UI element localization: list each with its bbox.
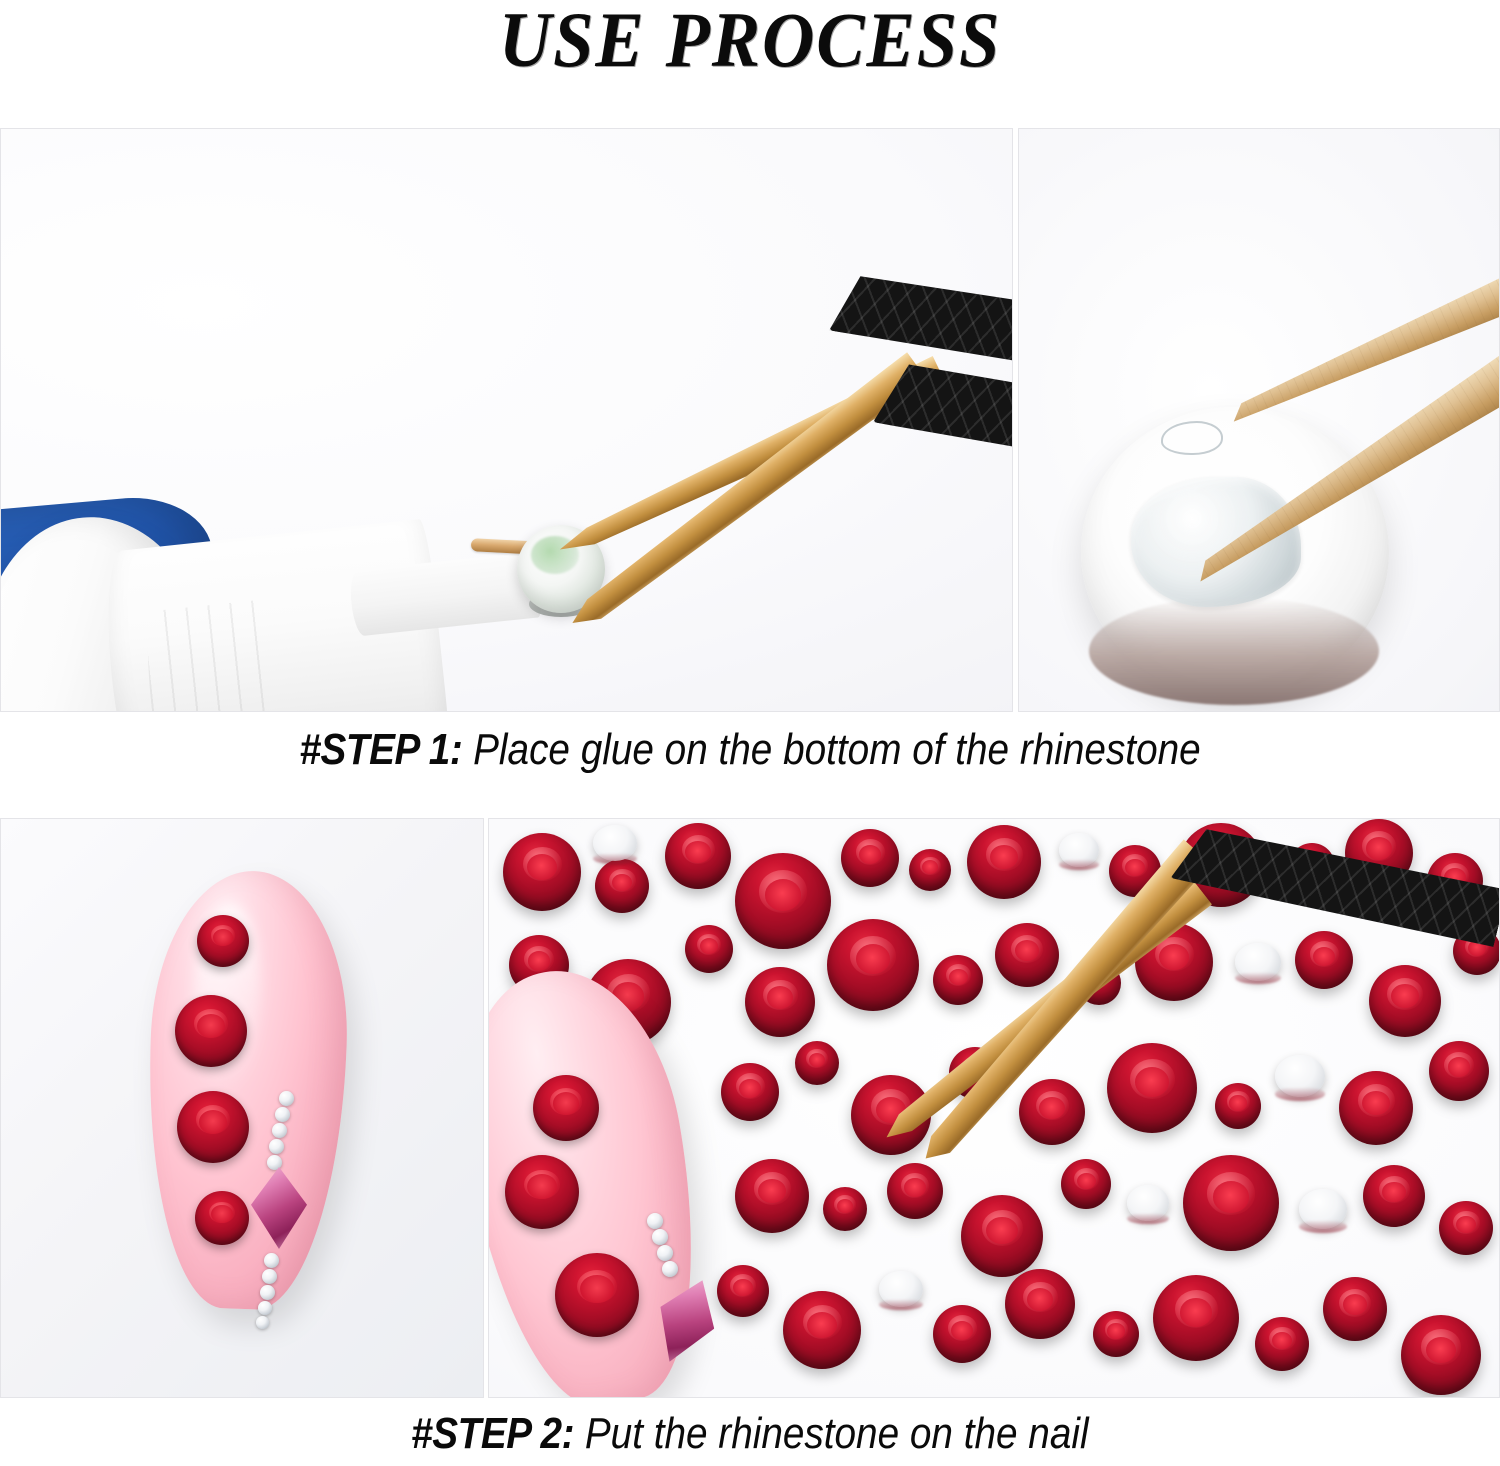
nail-rhinestone <box>195 1191 249 1245</box>
nail-rhinestone <box>175 995 247 1067</box>
rhinestone-edge <box>1089 597 1379 705</box>
scatter-rhinestone <box>503 833 581 911</box>
scatter-rhinestone <box>1401 1315 1481 1395</box>
scatter-rhinestone-flat <box>1275 1055 1325 1097</box>
scatter-rhinestone <box>717 1265 769 1317</box>
nail-bead <box>657 1245 673 1261</box>
nail-bead <box>267 1155 282 1170</box>
nail-bead <box>256 1316 269 1329</box>
scatter-rhinestone <box>1215 1083 1261 1129</box>
scatter-rhinestone <box>827 919 919 1011</box>
step-1-photo-strip <box>0 128 1500 712</box>
scatter-rhinestone <box>685 925 733 973</box>
nail-bead <box>272 1123 287 1138</box>
nail-rhinestone <box>177 1091 249 1163</box>
nail-bead <box>662 1261 678 1277</box>
scatter-rhinestone <box>1323 1277 1387 1341</box>
scatter-rhinestone <box>1005 1269 1075 1339</box>
glue-bubble <box>1161 421 1223 455</box>
nail-bead <box>264 1253 279 1268</box>
scatter-rhinestone <box>1093 1311 1139 1357</box>
glue-bottle-and-tweezers-photo <box>0 128 1013 712</box>
scatter-rhinestone <box>735 1159 809 1233</box>
step-2-label: #STEP 2: <box>411 1409 574 1458</box>
scatter-rhinestone <box>887 1163 943 1219</box>
scatter-rhinestone <box>961 1195 1043 1277</box>
scatter-rhinestone <box>721 1063 779 1121</box>
scatter-rhinestone <box>1429 1041 1489 1101</box>
nail-bead <box>260 1285 275 1300</box>
scatter-rhinestone <box>1107 1043 1197 1133</box>
finished-nail-photo <box>0 818 484 1398</box>
scatter-rhinestone <box>1019 1079 1085 1145</box>
step-1-caption: #STEP 1: Place glue on the bottom of the… <box>0 718 1500 808</box>
scatter-rhinestone <box>1183 1155 1279 1251</box>
step-1-description: Place glue on the bottom of the rhinesto… <box>462 725 1200 774</box>
scatter-rhinestone-flat <box>1235 943 1281 981</box>
scatter-rhinestone <box>1439 1201 1493 1255</box>
nail-bead <box>258 1301 272 1315</box>
scatter-rhinestone <box>1153 1275 1239 1361</box>
scatter-rhinestone-flat <box>593 825 637 861</box>
scatter-rhinestone <box>933 955 983 1005</box>
nail-bead <box>647 1213 663 1229</box>
scatter-rhinestone <box>995 923 1059 987</box>
scatter-rhinestone <box>909 849 951 891</box>
title-bar: USE PROCESS <box>0 0 1500 120</box>
scatter-rhinestone <box>967 825 1041 899</box>
scatter-rhinestone <box>1369 965 1441 1037</box>
step-2-description: Put the rhinestone on the nail <box>574 1409 1088 1458</box>
step-2-photo-strip <box>0 818 1500 1398</box>
glue-drop <box>1131 477 1301 607</box>
scatter-rhinestone <box>1295 931 1353 989</box>
scatter-rhinestone <box>795 1041 839 1085</box>
scatter-rhinestone <box>823 1187 867 1231</box>
nail-rhinestone <box>555 1253 639 1337</box>
nail-rhinestone <box>505 1155 579 1229</box>
scatter-rhinestone-flat <box>879 1271 923 1307</box>
nail-bead <box>262 1269 277 1284</box>
scatter-rhinestone-flat <box>1059 833 1099 867</box>
scatter-rhinestone <box>1255 1317 1309 1371</box>
scatter-rhinestone <box>735 853 831 949</box>
page-title: USE PROCESS <box>499 0 1001 80</box>
step-1-label: #STEP 1: <box>299 725 462 774</box>
nail-rhinestone <box>197 915 249 967</box>
nail-bead <box>269 1139 284 1154</box>
scatter-rhinestone <box>783 1291 861 1369</box>
scatter-rhinestone <box>665 823 731 889</box>
nail-bead <box>275 1107 290 1122</box>
applying-rhinestone-photo <box>488 818 1500 1398</box>
scatter-rhinestone-flat <box>1299 1189 1347 1229</box>
rhinestone-closeup-photo <box>1018 128 1500 712</box>
step-2-caption: #STEP 2: Put the rhinestone on the nail <box>0 1402 1500 1466</box>
scatter-rhinestone <box>1339 1071 1413 1145</box>
scatter-rhinestone <box>1363 1165 1425 1227</box>
scatter-rhinestone-flat <box>1127 1185 1169 1221</box>
scatter-rhinestone <box>933 1305 991 1363</box>
scatter-rhinestone <box>1061 1159 1111 1209</box>
infographic-page: USE PROCESS <box>0 0 1500 1466</box>
nail-bead <box>279 1091 294 1106</box>
scatter-rhinestone <box>745 967 815 1037</box>
scatter-rhinestone <box>841 829 899 887</box>
scatter-rhinestone <box>595 859 649 913</box>
nail-bead <box>652 1229 668 1245</box>
nail-rhinestone <box>533 1075 599 1141</box>
